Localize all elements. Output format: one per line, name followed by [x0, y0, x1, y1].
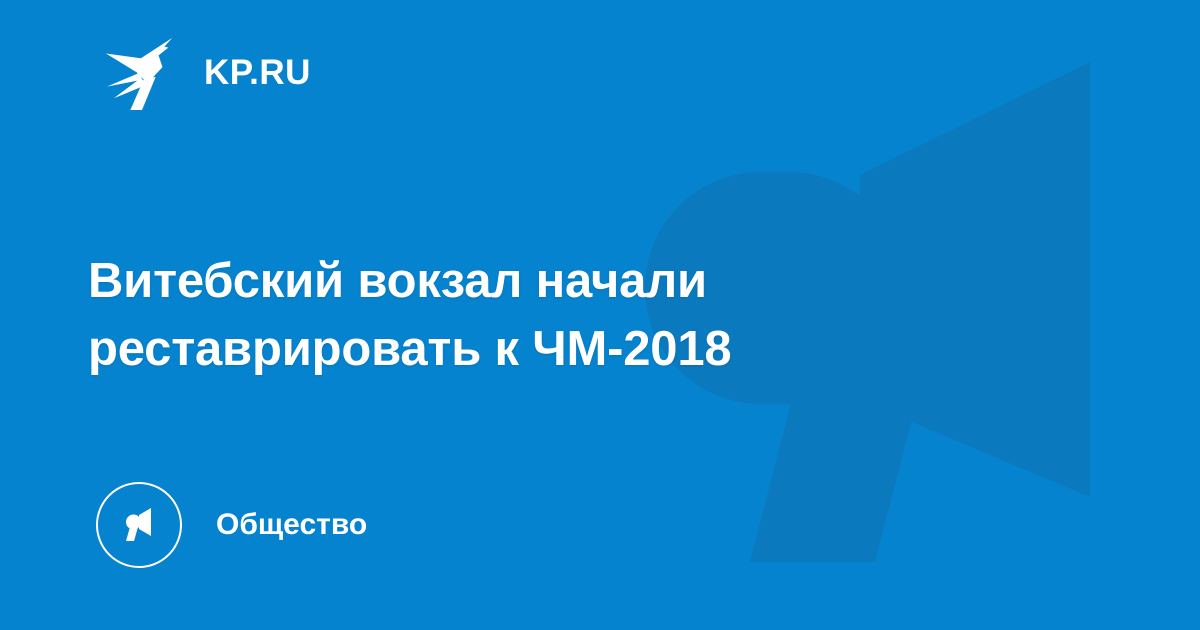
- headline-line-2: реставрировать к ЧМ-2018: [88, 315, 948, 383]
- page-title: Витебский вокзал начали реставрировать к…: [88, 247, 948, 383]
- megaphone-icon: [117, 503, 161, 547]
- category-label: Общество: [216, 510, 367, 540]
- category-tag[interactable]: Общество: [96, 482, 367, 568]
- share-card: KP.RU Витебский вокзал начали реставриро…: [0, 0, 1200, 630]
- swallow-bird-icon: [104, 34, 182, 110]
- brand-name: KP.RU: [204, 55, 311, 90]
- headline-line-1: Витебский вокзал начали: [88, 247, 948, 315]
- brand-header[interactable]: KP.RU: [104, 34, 311, 110]
- category-badge[interactable]: [96, 482, 182, 568]
